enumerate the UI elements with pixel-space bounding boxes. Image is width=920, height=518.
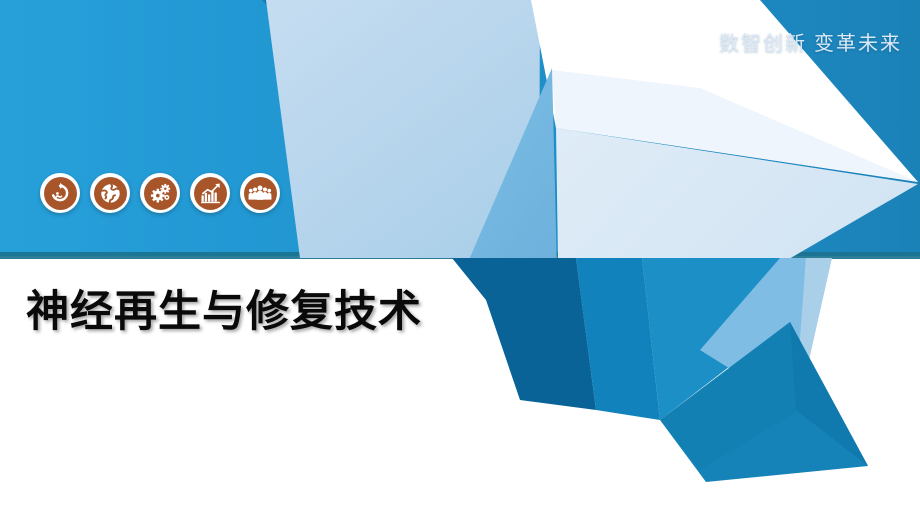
- background-artwork: [0, 0, 920, 518]
- slide-canvas: 数智创新 变革未来: [0, 0, 920, 518]
- icon-badge-recycle[interactable]: [40, 173, 80, 213]
- icon-badge-bar-chart[interactable]: [190, 173, 230, 213]
- globe-icon: [94, 177, 127, 210]
- gears-icon: [144, 177, 177, 210]
- bar-chart-growth-icon: [194, 177, 227, 210]
- recycle-arrow-icon: [44, 177, 77, 210]
- icon-badge-gears[interactable]: [140, 173, 180, 213]
- icon-row: [40, 173, 280, 213]
- people-group-icon: [244, 177, 277, 210]
- icon-badge-people[interactable]: [240, 173, 280, 213]
- tagline: 数智创新 变革未来: [719, 27, 902, 56]
- icon-badge-globe[interactable]: [90, 173, 130, 213]
- page-title: 神经再生与修复技术: [26, 289, 422, 335]
